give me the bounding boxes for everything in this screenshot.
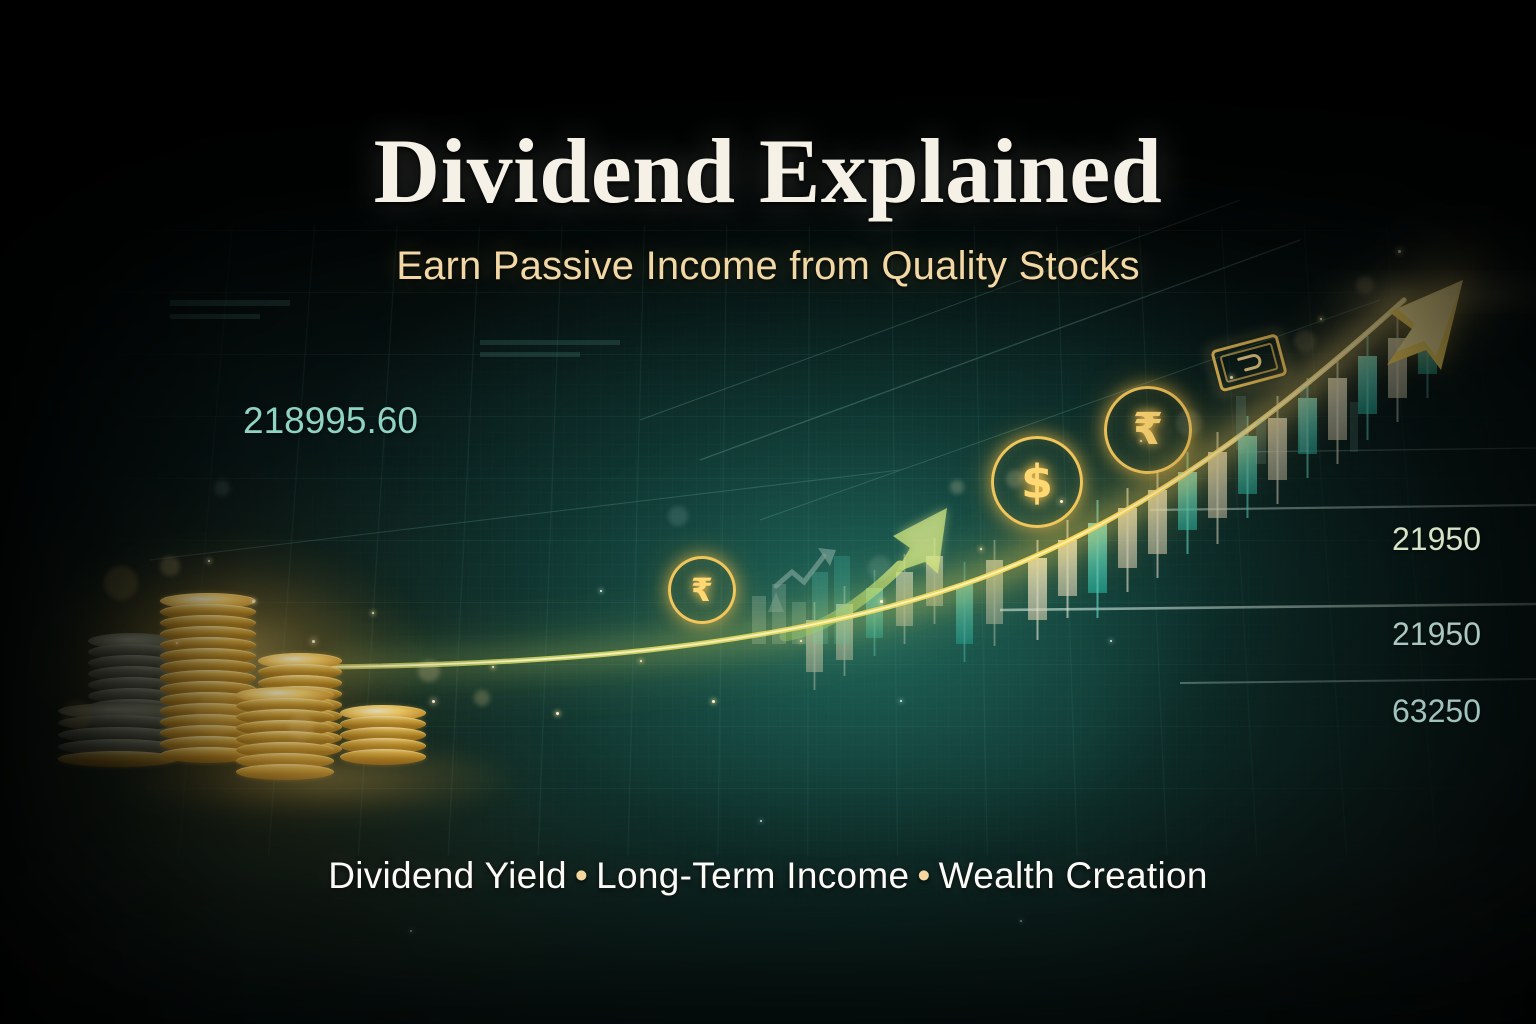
- rupee-small-icon: ₹: [668, 556, 736, 624]
- footer-item-3: Wealth Creation: [939, 855, 1208, 896]
- hero-banner: ₹ $ ₹ 218995.60 21950 21950 63250 Divide…: [0, 0, 1536, 1024]
- ticker-right-value-2: 21950: [1392, 616, 1481, 653]
- ticker-right-value-3: 63250: [1392, 693, 1481, 730]
- ticker-right-value-1: 21950: [1392, 521, 1481, 558]
- ticker-left-value: 218995.60: [243, 400, 418, 442]
- footer-item-2: Long-Term Income: [596, 855, 909, 896]
- rupee-large-glyph: ₹: [1133, 408, 1164, 452]
- footer-separator-1: •: [567, 855, 596, 896]
- coin-floor-glow: [40, 700, 600, 860]
- footer-tagline: Dividend Yield•Long-Term Income•Wealth C…: [0, 855, 1536, 897]
- dollar-glyph: $: [1021, 459, 1053, 505]
- rupee-small-glyph: ₹: [691, 574, 713, 606]
- page-title: Dividend Explained: [0, 118, 1536, 224]
- footer-separator-2: •: [909, 855, 938, 896]
- dollar-icon: $: [991, 436, 1083, 528]
- page-subtitle: Earn Passive Income from Quality Stocks: [0, 244, 1536, 289]
- footer-item-1: Dividend Yield: [328, 855, 567, 896]
- rupee-large-icon: ₹: [1104, 386, 1192, 474]
